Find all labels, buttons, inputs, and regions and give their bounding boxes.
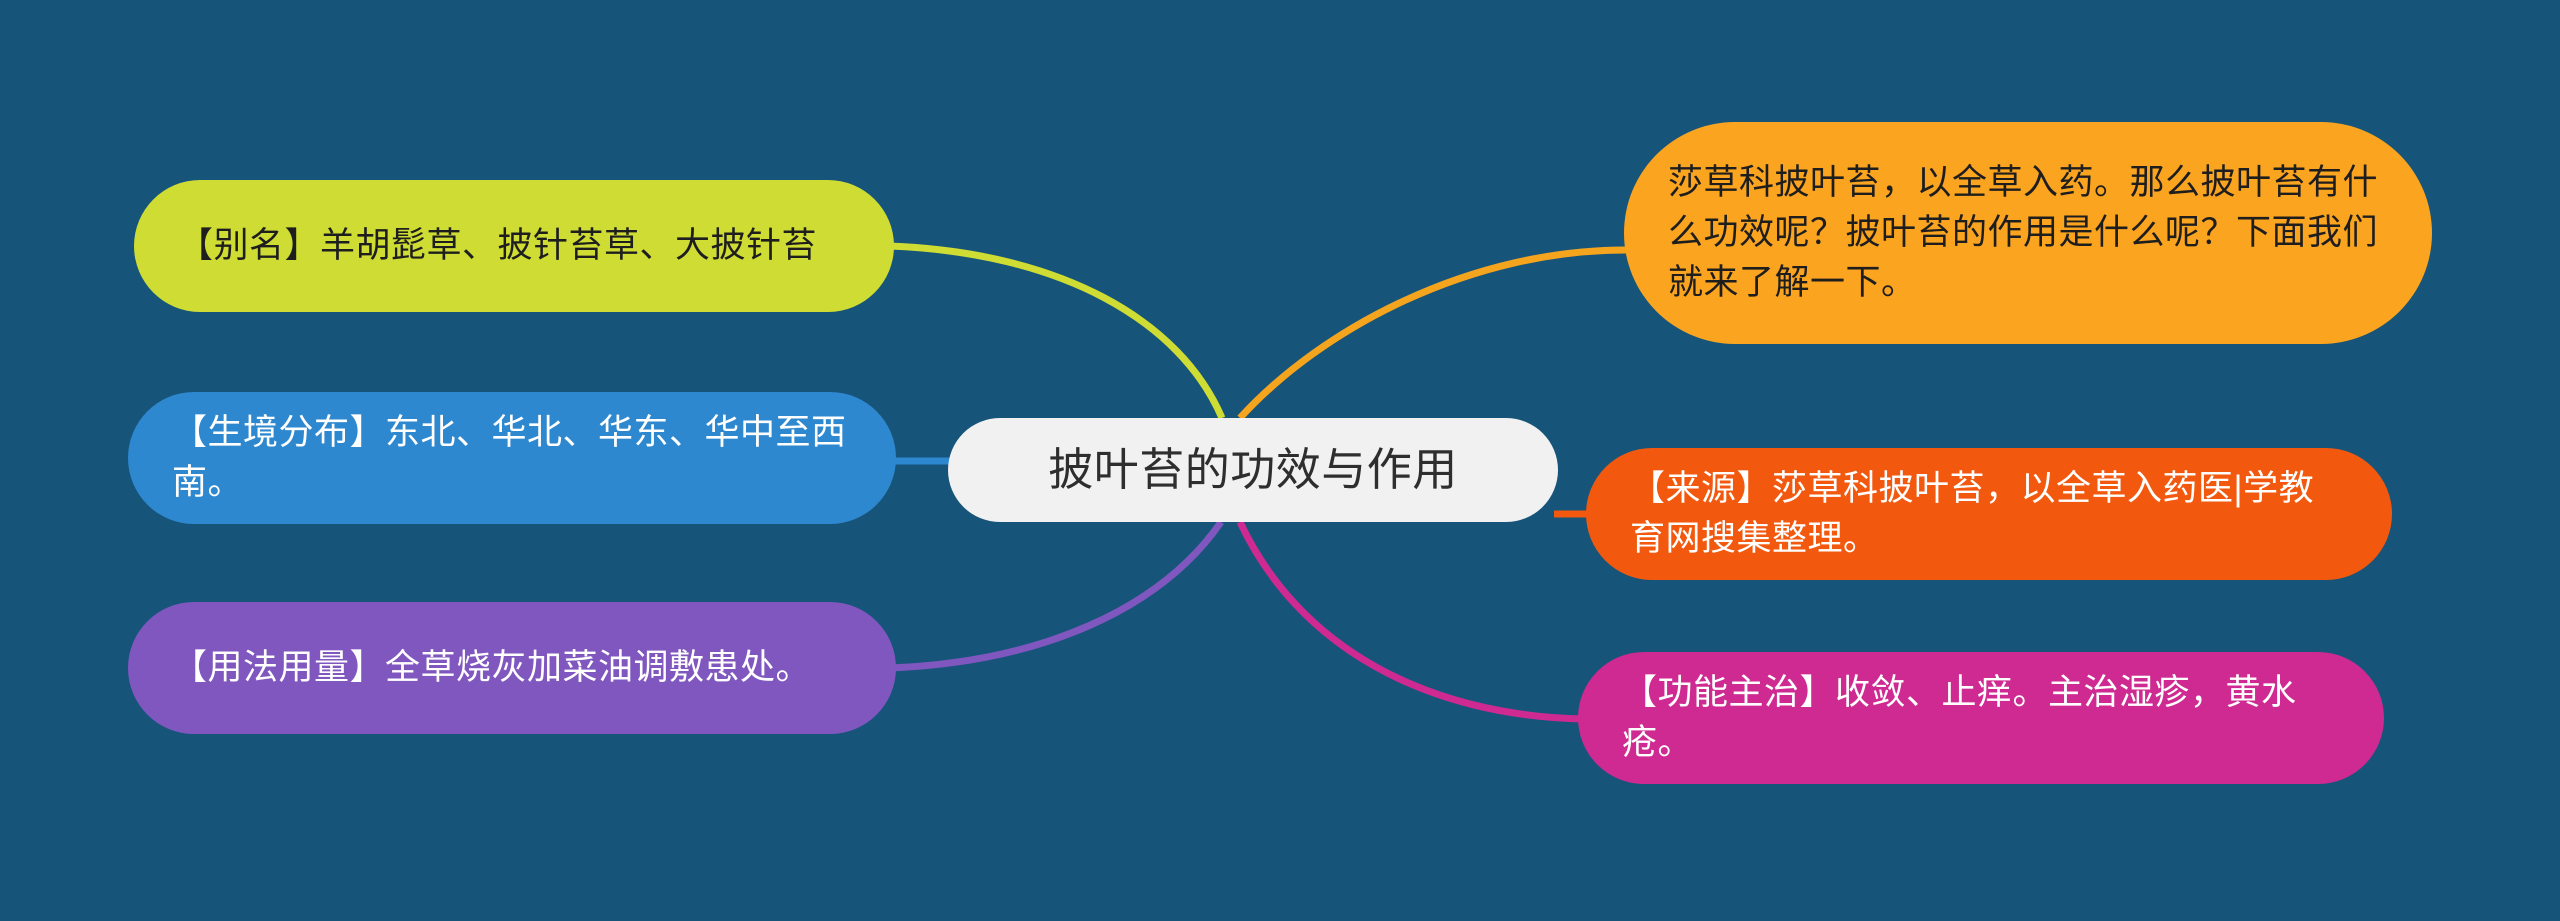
branch-node-source[interactable]: 【来源】莎草科披叶苔，以全草入药医|学教育网搜集整理。 (1586, 448, 2392, 580)
branch-node-function-label: 【功能主治】收敛、止痒。主治湿疹，黄水疮。 (1622, 668, 2340, 767)
root-node[interactable]: 披叶苔的功效与作用 (948, 418, 1558, 522)
branch-node-alias[interactable]: 【别名】羊胡髭草、披针苔草、大披针苔 (134, 180, 894, 312)
branch-node-habitat[interactable]: 【生境分布】东北、华北、华东、华中至西南。 (128, 392, 896, 524)
branch-node-intro[interactable]: 莎草科披叶苔，以全草入药。那么披叶苔有什么功效呢？披叶苔的作用是什么呢？下面我们… (1624, 122, 2432, 344)
branch-node-intro-label: 莎草科披叶苔，以全草入药。那么披叶苔有什么功效呢？披叶苔的作用是什么呢？下面我们… (1668, 158, 2388, 307)
branch-node-habitat-label: 【生境分布】东北、华北、华东、华中至西南。 (172, 408, 852, 507)
connector-intro (1240, 250, 1632, 418)
connector-function (1240, 522, 1584, 719)
connector-alias (888, 246, 1222, 418)
mindmap-canvas: 【别名】羊胡髭草、披针苔草、大披针苔 【生境分布】东北、华北、华东、华中至西南。… (0, 0, 2560, 921)
connector-usage (890, 522, 1221, 668)
root-node-label: 披叶苔的功效与作用 (992, 438, 1514, 502)
branch-node-usage-label: 【用法用量】全草烧灰加菜油调敷患处。 (172, 643, 852, 693)
branch-node-usage[interactable]: 【用法用量】全草烧灰加菜油调敷患处。 (128, 602, 896, 734)
branch-node-function[interactable]: 【功能主治】收敛、止痒。主治湿疹，黄水疮。 (1578, 652, 2384, 784)
branch-node-alias-label: 【别名】羊胡髭草、披针苔草、大披针苔 (178, 221, 850, 271)
branch-node-source-label: 【来源】莎草科披叶苔，以全草入药医|学教育网搜集整理。 (1630, 464, 2348, 563)
